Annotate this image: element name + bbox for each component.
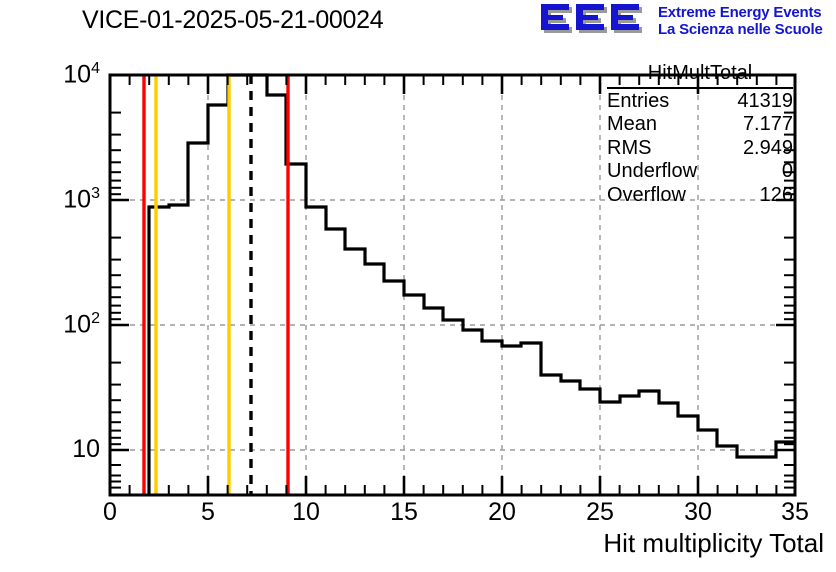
y-tick-exp-2: 2 (91, 310, 100, 327)
stats-value-mean: 7.177 (743, 113, 793, 137)
cut-markers (144, 75, 288, 495)
y-tick-exp-4: 4 (91, 60, 100, 77)
x-tick-label-20: 20 (472, 498, 532, 527)
stats-row-underflow: Underflow 0 (607, 160, 793, 184)
x-major-ticks (110, 476, 795, 495)
y-tick-label-10: 10 (10, 435, 100, 464)
stats-title: HitMultTotal (607, 62, 793, 89)
stats-value-entries: 41319 (737, 90, 793, 114)
y-tick-label-100: 102 (10, 310, 100, 339)
y-tick-exp-3: 3 (91, 185, 100, 202)
stats-key-overflow: Overflow (607, 184, 686, 208)
x-tick-label-30: 30 (668, 498, 728, 527)
stats-row-overflow: Overflow 126 (607, 184, 793, 208)
stats-key-underflow: Underflow (607, 160, 697, 184)
stats-key-rms: RMS (607, 137, 651, 161)
y-ticks-left (110, 75, 129, 488)
x-tick-label-5: 5 (178, 498, 238, 527)
x-tick-label-25: 25 (570, 498, 630, 527)
stats-key-mean: Mean (607, 113, 657, 137)
stats-value-underflow: 0 (782, 160, 793, 184)
stats-value-rms: 2.949 (743, 137, 793, 161)
x-tick-label-15: 15 (374, 498, 434, 527)
root-canvas: VICE-01-2025-05-21-00024 (0, 0, 836, 572)
x-axis-title: Hit multiplicity Total (603, 528, 824, 559)
y-tick-label-1000: 103 (10, 185, 100, 214)
stats-row-entries: Entries 41319 (607, 90, 793, 114)
x-tick-label-10: 10 (276, 498, 336, 527)
x-tick-label-0: 0 (80, 498, 140, 527)
stats-value-overflow: 126 (760, 184, 793, 208)
stats-key-entries: Entries (607, 90, 669, 114)
y-tick-label-10000: 104 (10, 60, 100, 89)
stats-box: HitMultTotal Entries 41319 Mean 7.177 RM… (607, 62, 793, 207)
x-tick-label-35: 35 (765, 498, 825, 527)
stats-row-mean: Mean 7.177 (607, 113, 793, 137)
stats-row-rms: RMS 2.949 (607, 137, 793, 161)
